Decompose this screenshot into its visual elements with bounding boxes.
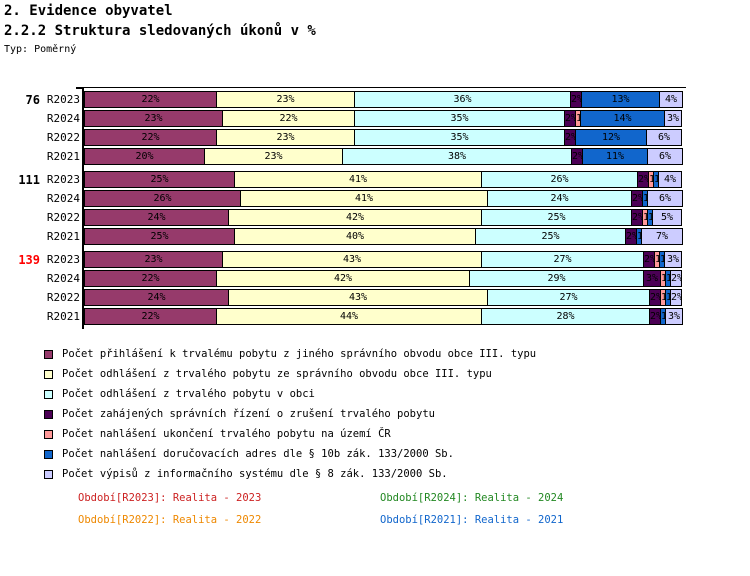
bar-segment-value: 4% <box>665 94 677 105</box>
bar-segment: 23% <box>204 148 343 165</box>
row-label: R2022 <box>40 209 80 226</box>
bar-segment-value: 27% <box>559 292 577 303</box>
bar-segment-value: 29% <box>547 273 565 284</box>
bar-segment: 3% <box>665 308 683 325</box>
bar-segment-value: 22% <box>141 273 159 284</box>
bar-segment: 4% <box>658 171 682 188</box>
bar-segment: 35% <box>354 110 565 127</box>
bar-segment-value: 28% <box>556 311 574 322</box>
row-label: R2024 <box>40 270 80 287</box>
bar-segment-value: 24% <box>550 193 568 204</box>
stacked-bar: 25%40%25%2%1%7% <box>84 228 688 245</box>
bar-segment-value: 27% <box>553 254 571 265</box>
bar-segment: 25% <box>475 228 626 245</box>
legend-item: Počet odhlášení z trvalého pobytu ze spr… <box>44 364 744 384</box>
row-label: R2024 <box>40 110 80 127</box>
bar-segment: 5% <box>652 209 682 226</box>
bar-segment-value: 3% <box>667 113 679 124</box>
row-label: R2023 <box>40 251 80 268</box>
chart-row: R202120%23%38%2%11%6% <box>0 148 750 167</box>
stacked-bar: 22%44%28%2%1%3% <box>84 308 688 325</box>
legend-label: Počet odhlášení z trvalého pobytu v obci <box>62 388 315 401</box>
period-label: Období[R2023]: Realita - 2023 <box>78 491 261 505</box>
bar-segment: 29% <box>469 270 644 287</box>
bar-segment: 13% <box>581 91 660 108</box>
chart-row: R202323%43%27%2%1%1%3% <box>0 251 750 270</box>
bar-segment-value: 25% <box>150 174 168 185</box>
row-label: R2021 <box>40 148 80 165</box>
legend-swatch-icon <box>44 430 53 439</box>
bar-segment: 26% <box>481 171 638 188</box>
bar-segment-value: 12% <box>602 132 620 143</box>
chart-row: R202125%40%25%2%1%7% <box>0 228 750 247</box>
bar-segment: 2% <box>670 270 682 287</box>
bar-segment-value: 3% <box>668 311 680 322</box>
bar-segment-value: 2% <box>671 292 682 303</box>
bar-segment: 2% <box>670 289 682 306</box>
row-label: R2023 <box>40 171 80 188</box>
stacked-bar: 22%23%36%2%13%4% <box>84 91 688 108</box>
chart-row: R202222%23%35%2%12%6% <box>0 129 750 148</box>
chart-group: 139R202323%43%27%2%1%1%3%R202422%42%29%3… <box>0 251 750 327</box>
period-label: Období[R2024]: Realita - 2024 <box>380 491 563 505</box>
bar-segment-value: 23% <box>276 132 294 143</box>
period-line: Období[R2023]: Realita - 2023Období[R202… <box>78 491 738 513</box>
bar-segment: 6% <box>647 148 683 165</box>
bar-segment: 24% <box>84 289 229 306</box>
bar-segment-value: 24% <box>147 212 165 223</box>
bar-segment: 40% <box>234 228 476 245</box>
bar-segment: 11% <box>582 148 648 165</box>
bar-segment-value: 2% <box>671 273 682 284</box>
bar-segment: 7% <box>641 228 683 245</box>
bar-segment-value: 22% <box>279 113 297 124</box>
stacked-bar: 22%42%29%3%1%1%2% <box>84 270 688 287</box>
bar-segment: 27% <box>481 251 644 268</box>
stacked-bar: 24%42%25%2%1%1%5% <box>84 209 688 226</box>
legend-swatch-icon <box>44 470 53 479</box>
chart-row: R202325%41%26%2%1%1%4% <box>0 171 750 190</box>
legend-item: Počet přihlášení k trvalému pobytu z jin… <box>44 344 744 364</box>
chart-row: R202224%42%25%2%1%1%5% <box>0 209 750 228</box>
bar-segment-value: 5% <box>661 212 673 223</box>
chart-row: R202322%23%36%2%13%4% <box>0 91 750 110</box>
bar-segment-value: 36% <box>453 94 471 105</box>
legend-label: Počet přihlášení k trvalému pobytu z jin… <box>62 348 536 361</box>
bar-segment: 35% <box>354 129 565 146</box>
chart-group: 76R202322%23%36%2%13%4%R202423%22%35%2%1… <box>0 91 750 167</box>
bar-segment-value: 22% <box>141 132 159 143</box>
bar-segment-value: 3% <box>667 254 679 265</box>
chart-group: 111R202325%41%26%2%1%1%4%R202426%41%24%2… <box>0 171 750 247</box>
legend-item: Počet nahlášení doručovacích adres dle §… <box>44 444 744 464</box>
bar-segment-value: 6% <box>659 151 671 162</box>
bar-segment-value: 3% <box>646 273 658 284</box>
legend-swatch-icon <box>44 390 53 399</box>
report-header: 2. Evidence obyvatel 2.2.2 Struktura sle… <box>4 2 744 56</box>
bar-segment: 6% <box>646 129 682 146</box>
stacked-bar: 20%23%38%2%11%6% <box>84 148 688 165</box>
stacked-bar: 24%43%27%2%1%1%2% <box>84 289 688 306</box>
legend-label: Počet nahlášení doručovacích adres dle §… <box>62 448 454 461</box>
bar-segment: 22% <box>222 110 355 127</box>
bar-segment: 41% <box>234 171 482 188</box>
bar-segment: 22% <box>84 270 217 287</box>
bar-segment-value: 11% <box>606 151 624 162</box>
bar-segment: 23% <box>216 91 355 108</box>
bar-segment-value: 22% <box>141 94 159 105</box>
page-title: 2. Evidence obyvatel <box>4 2 744 20</box>
bar-segment-value: 7% <box>656 231 668 242</box>
chart-top-rule <box>82 87 686 88</box>
bar-segment: 38% <box>342 148 572 165</box>
bar-segment-value: 43% <box>343 254 361 265</box>
stacked-bar: 23%43%27%2%1%1%3% <box>84 251 688 268</box>
bar-segment-value: 40% <box>346 231 364 242</box>
bar-segment-value: 23% <box>144 113 162 124</box>
bar-segment: 22% <box>84 91 217 108</box>
legend-item: Počet výpisů z informačního systému dle … <box>44 464 744 484</box>
bar-segment-value: 25% <box>150 231 168 242</box>
bar-segment-value: 26% <box>153 193 171 204</box>
bar-segment: 36% <box>354 91 571 108</box>
stacked-bar: 25%41%26%2%1%1%4% <box>84 171 688 188</box>
bar-segment-value: 14% <box>613 113 631 124</box>
bar-segment: 6% <box>647 190 683 207</box>
legend-label: Počet výpisů z informačního systému dle … <box>62 468 448 481</box>
legend-item: Počet odhlášení z trvalého pobytu v obci <box>44 384 744 404</box>
bar-segment: 3% <box>664 110 682 127</box>
bar-segment: 3% <box>643 270 661 287</box>
bar-segment: 25% <box>481 209 632 226</box>
bar-segment: 28% <box>481 308 650 325</box>
bar-segment-value: 44% <box>340 311 358 322</box>
legend-swatch-icon <box>44 370 53 379</box>
bar-segment: 27% <box>487 289 650 306</box>
bar-segment-value: 25% <box>541 231 559 242</box>
bar-segment: 43% <box>222 251 482 268</box>
bar-segment-value: 13% <box>611 94 629 105</box>
stacked-bar-chart: 76R202322%23%36%2%13%4%R202423%22%35%2%1… <box>0 85 750 335</box>
bar-segment: 4% <box>659 91 683 108</box>
bar-segment: 43% <box>228 289 488 306</box>
bar-segment-value: 35% <box>450 132 468 143</box>
legend-label: Počet zahájených správních řízení o zruš… <box>62 408 435 421</box>
chart-row: R202122%44%28%2%1%3% <box>0 308 750 327</box>
bar-segment-value: 20% <box>135 151 153 162</box>
period-label: Období[R2021]: Realita - 2021 <box>380 513 563 527</box>
bar-segment-value: 35% <box>450 113 468 124</box>
chart-row: R202426%41%24%2%1%6% <box>0 190 750 209</box>
bar-segment-value: 38% <box>448 151 466 162</box>
bar-segment-value: 25% <box>547 212 565 223</box>
bar-segment-value: 26% <box>550 174 568 185</box>
bar-segment-value: 22% <box>141 311 159 322</box>
row-label: R2022 <box>40 289 80 306</box>
bar-segment: 23% <box>84 110 223 127</box>
bar-segment: 26% <box>84 190 241 207</box>
chart-row: R202423%22%35%2%1%14%3% <box>0 110 750 129</box>
stacked-bar: 26%41%24%2%1%6% <box>84 190 688 207</box>
bar-segment-value: 41% <box>355 193 373 204</box>
bar-segment: 22% <box>84 308 217 325</box>
bar-segment: 24% <box>84 209 229 226</box>
legend-item: Počet zahájených správních řízení o zruš… <box>44 404 744 424</box>
bar-segment: 25% <box>84 228 235 245</box>
row-label: R2023 <box>40 91 80 108</box>
bar-segment: 23% <box>84 251 223 268</box>
chart-legend: Počet přihlášení k trvalému pobytu z jin… <box>44 344 744 484</box>
bar-segment-value: 6% <box>658 132 670 143</box>
bar-segment: 22% <box>84 129 217 146</box>
bar-segment: 42% <box>228 209 482 226</box>
bar-segment: 44% <box>216 308 482 325</box>
bar-segment: 12% <box>575 129 647 146</box>
row-label: R2021 <box>40 228 80 245</box>
chart-type-label: Typ: Poměrný <box>4 43 744 56</box>
legend-swatch-icon <box>44 450 53 459</box>
legend-label: Počet odhlášení z trvalého pobytu ze spr… <box>62 368 492 381</box>
bar-segment-value: 4% <box>664 174 676 185</box>
row-label: R2024 <box>40 190 80 207</box>
bar-segment-value: 23% <box>144 254 162 265</box>
bar-segment-value: 42% <box>346 212 364 223</box>
period-line: Období[R2022]: Realita - 2022Období[R202… <box>78 513 738 535</box>
chart-row: R202224%43%27%2%1%1%2% <box>0 289 750 308</box>
period-legend: Období[R2023]: Realita - 2023Období[R202… <box>78 491 738 535</box>
bar-segment-value: 42% <box>334 273 352 284</box>
bar-segment-value: 41% <box>349 174 367 185</box>
stacked-bar: 22%23%35%2%12%6% <box>84 129 688 146</box>
bar-segment: 24% <box>487 190 632 207</box>
bar-segment-value: 23% <box>276 94 294 105</box>
period-label: Období[R2022]: Realita - 2022 <box>78 513 261 527</box>
bar-segment: 20% <box>84 148 205 165</box>
page-subtitle: 2.2.2 Struktura sledovaných úkonů v % <box>4 22 744 40</box>
legend-item: Počet nahlášení ukončení trvalého pobytu… <box>44 424 744 444</box>
bar-segment: 3% <box>664 251 682 268</box>
bar-segment-value: 23% <box>264 151 282 162</box>
row-label: R2022 <box>40 129 80 146</box>
bar-segment-value: 43% <box>349 292 367 303</box>
bar-segment: 14% <box>580 110 665 127</box>
bar-segment: 41% <box>240 190 488 207</box>
legend-swatch-icon <box>44 410 53 419</box>
chart-row: R202422%42%29%3%1%1%2% <box>0 270 750 289</box>
legend-label: Počet nahlášení ukončení trvalého pobytu… <box>62 428 391 441</box>
bar-segment-value: 6% <box>659 193 671 204</box>
row-label: R2021 <box>40 308 80 325</box>
stacked-bar: 23%22%35%2%1%14%3% <box>84 110 688 127</box>
legend-swatch-icon <box>44 350 53 359</box>
bar-segment: 25% <box>84 171 235 188</box>
bar-segment-value: 24% <box>147 292 165 303</box>
bar-segment: 42% <box>216 270 470 287</box>
bar-segment: 23% <box>216 129 355 146</box>
